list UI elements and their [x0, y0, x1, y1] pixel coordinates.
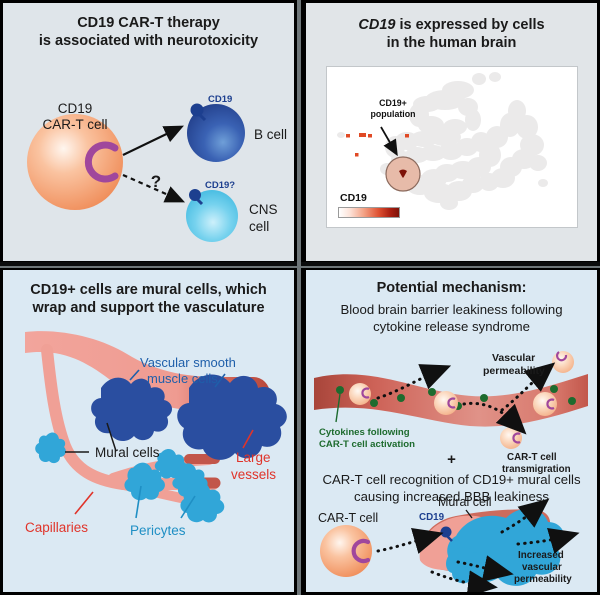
label-mural-cell: Mural cell	[438, 495, 492, 509]
cart-cell-in-vessel-3	[533, 392, 557, 416]
label-increased-line2: vascular	[522, 562, 562, 573]
cart-cell-large-body	[320, 525, 372, 577]
cart-cell-in-vessel-1	[349, 383, 371, 405]
mural-cd19-marker-icon	[441, 527, 452, 538]
label-cd19-marker: CD19	[419, 512, 445, 523]
label-cytokines-line1: Cytokines following	[319, 427, 410, 438]
mechanism-diagram: Vascular permeability Cytokines followin…	[306, 270, 597, 592]
label-transmigration-line2: transmigration	[502, 464, 571, 475]
label-large-vessels-line1: Large	[236, 450, 271, 465]
label-vsmc-line1: Vascular smooth	[140, 355, 236, 370]
label-cart-cell: CAR-T cell	[318, 511, 378, 525]
b-cell-marker-label: CD19	[208, 94, 232, 105]
graphical-abstract-figure: CD19 CAR-T therapy is associated with ne…	[0, 0, 600, 595]
label-transmigration-line1: CAR-T cell	[507, 452, 557, 463]
cart-label-line2: CAR-T cell	[42, 117, 107, 132]
panel-top-right: CD19 is expressed by cells in the human …	[306, 3, 597, 261]
panel-top-left: CD19 CAR-T therapy is associated with ne…	[3, 3, 294, 261]
capillaries-leader-line	[75, 492, 93, 514]
question-mark-label: ?	[151, 172, 161, 191]
cart-cell-escaped-bottom	[500, 427, 522, 449]
panel-top-right-title: CD19 is expressed by cells in the human …	[306, 17, 597, 52]
title-rest: is expressed by cells	[395, 17, 544, 33]
label-vascular-permeability-line2: permeability	[483, 365, 545, 377]
vasculature-diagram: Vascular smooth muscle cells Mural cells…	[3, 270, 294, 592]
label-pericytes: Pericytes	[130, 523, 186, 538]
label-vascular-permeability-line1: Vascular	[492, 352, 535, 364]
label-cytokines-line2: CAR-T cell activation	[319, 439, 415, 450]
cns-cell-label-line1: CNS	[249, 202, 278, 217]
gene-name-italic: CD19	[358, 17, 395, 33]
label-capillaries: Capillaries	[25, 520, 88, 535]
cns-cell-marker-label: CD19?	[205, 180, 235, 191]
label-increased-line1: Increased	[518, 550, 564, 561]
arrow-to-b-cell	[123, 127, 181, 155]
cart-label-line1: CD19	[58, 101, 93, 116]
panel-bottom-left: CD19+ cells are mural cells, which wrap …	[3, 270, 294, 592]
title-line-1: CD19 is expressed by cells	[306, 17, 597, 35]
label-mural-cells: Mural cells	[95, 445, 160, 460]
cart-therapy-diagram: CD19 CAR-T cell ? CD19 B cell CD19? CNS …	[3, 3, 294, 261]
label-vsmc-line2: muscle cells	[147, 371, 218, 386]
umap-plot[interactable]: CD19+ population CD19	[326, 66, 578, 228]
label-increased-line3: permeability	[514, 574, 572, 585]
b-cell-label: B cell	[254, 127, 287, 142]
label-large-vessels-line2: vessels	[231, 467, 276, 482]
title-line-2: in the human brain	[306, 35, 597, 53]
cns-cell-label-line2: cell	[249, 219, 269, 234]
colorbar-label: CD19	[340, 192, 367, 204]
annotation-arrow	[381, 127, 396, 153]
cart-cell-escaped-top	[552, 351, 574, 373]
vertical-divider	[297, 0, 301, 595]
panel-bottom-right: Potential mechanism: Blood brain barrier…	[306, 270, 597, 592]
cart-cell-in-vessel-2	[434, 391, 458, 415]
cd19-colorbar	[338, 207, 400, 218]
